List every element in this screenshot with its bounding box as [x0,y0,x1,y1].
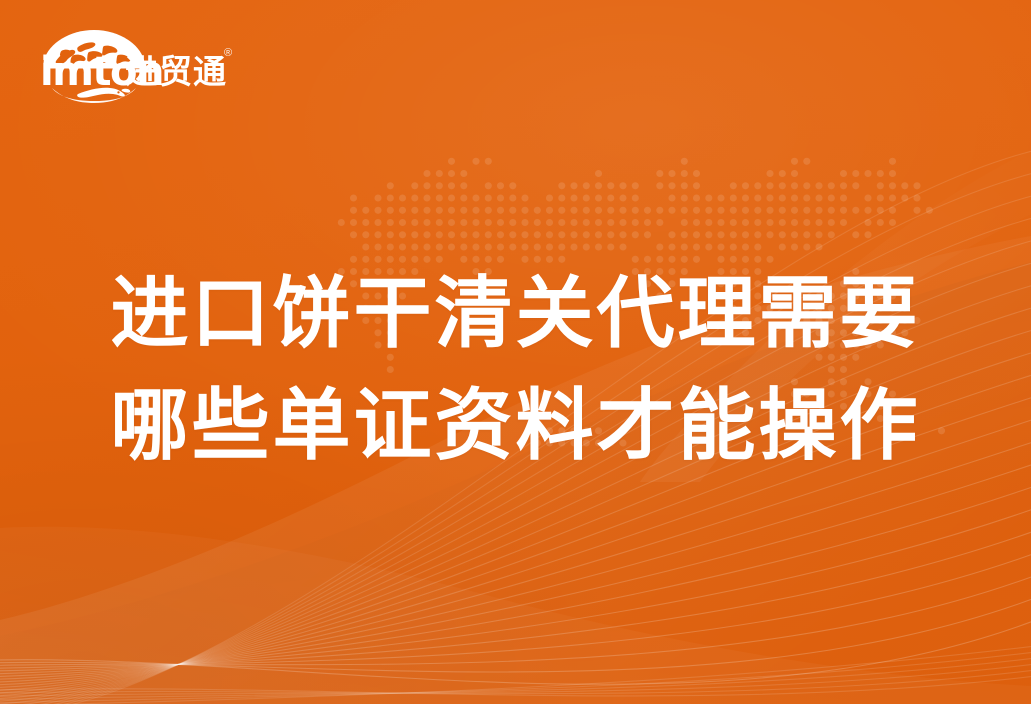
poster-canvas: imton 进贸通 ® 进口饼干清关代理需要 哪些单证资料才能操作 [0,0,1031,704]
registered-trademark-icon: ® [224,48,232,59]
brand-logo[interactable]: imton 进贸通 ® [38,24,218,104]
headline-line-2: 哪些单证资料才能操作 [0,370,1031,482]
page-title: 进口饼干清关代理需要 哪些单证资料才能操作 [0,258,1031,482]
logo-chinese-name: 进贸通 [125,54,227,90]
headline-line-1: 进口饼干清关代理需要 [0,258,1031,370]
